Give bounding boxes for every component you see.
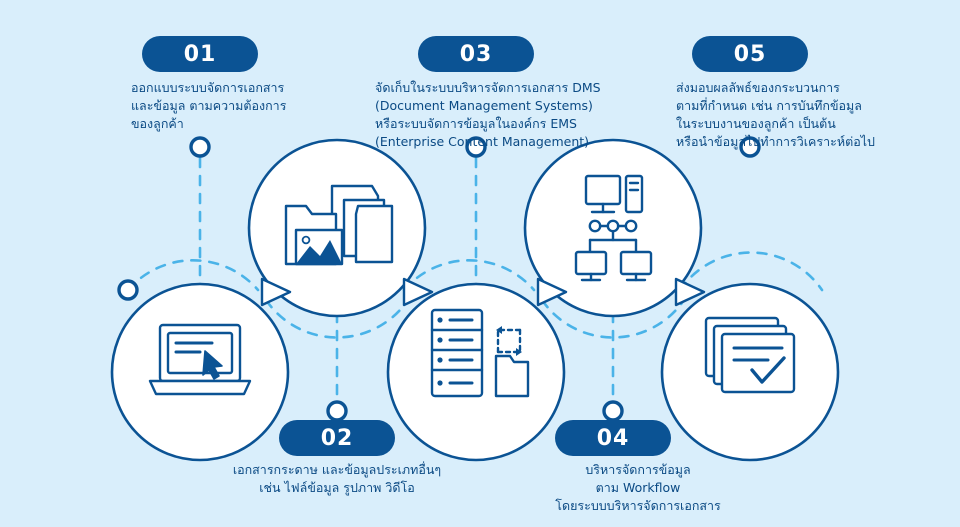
dot-step-1 [191,138,209,156]
dot-step-4 [604,402,622,420]
stage-circles [112,140,838,460]
dot-flow-start [119,281,137,299]
infographic-process-diagram: 01 02 03 04 05 ออกแบบระบบจัดการเอกสาร แล… [0,0,960,527]
step-badge-5[interactable]: 05 [692,36,808,72]
step-caption-4: บริหารจัดการข้อมูล ตาม Workflow โดยระบบบ… [518,461,758,515]
step-caption-5: ส่งมอบผลลัพธ์ของกระบวนการ ตามที่กำหนด เช… [676,79,946,151]
step-badge-3[interactable]: 03 [418,36,534,72]
dot-step-2 [328,402,346,420]
step-badge-2[interactable]: 02 [279,420,395,456]
step-caption-2: เอกสารกระดาษ และข้อมูลประเภทอื่นๆ เช่น ไ… [217,461,457,497]
checked-documents-icon [706,318,794,392]
step-badge-1[interactable]: 01 [142,36,258,72]
step-caption-1: ออกแบบระบบจัดการเอกสาร และข้อมูล ตามความ… [131,79,361,133]
step-badge-4[interactable]: 04 [555,420,671,456]
step-caption-3: จัดเก็บในระบบบริหารจัดการเอกสาร DMS (Doc… [375,79,665,151]
